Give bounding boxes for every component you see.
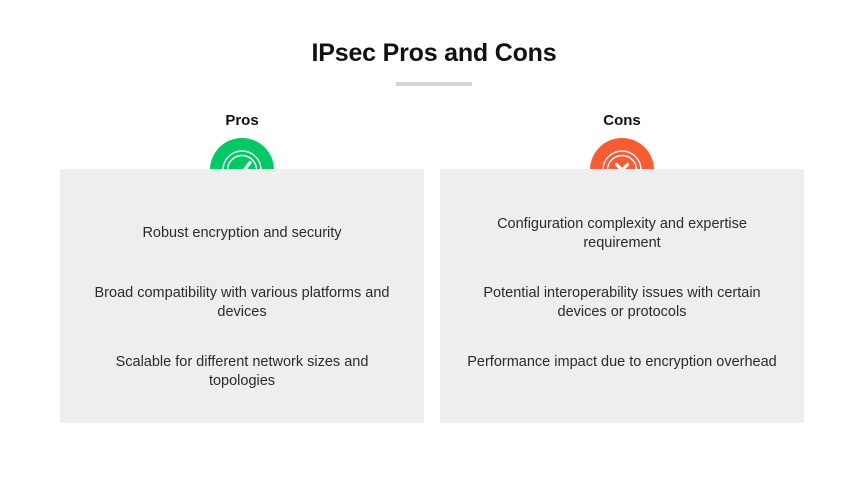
list-item: Configuration complexity and expertise r… <box>440 215 804 253</box>
panel-cons: Configuration complexity and expertise r… <box>440 169 804 423</box>
list-pros: Robust encryption and security Broad com… <box>60 215 424 391</box>
list-item: Robust encryption and security <box>60 224 424 243</box>
page-title: IPsec Pros and Cons <box>0 39 868 68</box>
list-item: Performance impact due to encryption ove… <box>440 353 804 372</box>
title-divider <box>396 82 472 86</box>
list-item: Potential interoperability issues with c… <box>440 284 804 322</box>
list-cons: Configuration complexity and expertise r… <box>440 215 804 372</box>
list-item: Scalable for different network sizes and… <box>60 353 424 391</box>
column-header-cons: Cons <box>440 112 804 129</box>
column-header-pros: Pros <box>60 112 424 129</box>
list-item: Broad compatibility with various platfor… <box>60 284 424 322</box>
panel-pros: Robust encryption and security Broad com… <box>60 169 424 423</box>
slide-canvas: IPsec Pros and Cons Pros Robust encrypti… <box>0 0 868 488</box>
